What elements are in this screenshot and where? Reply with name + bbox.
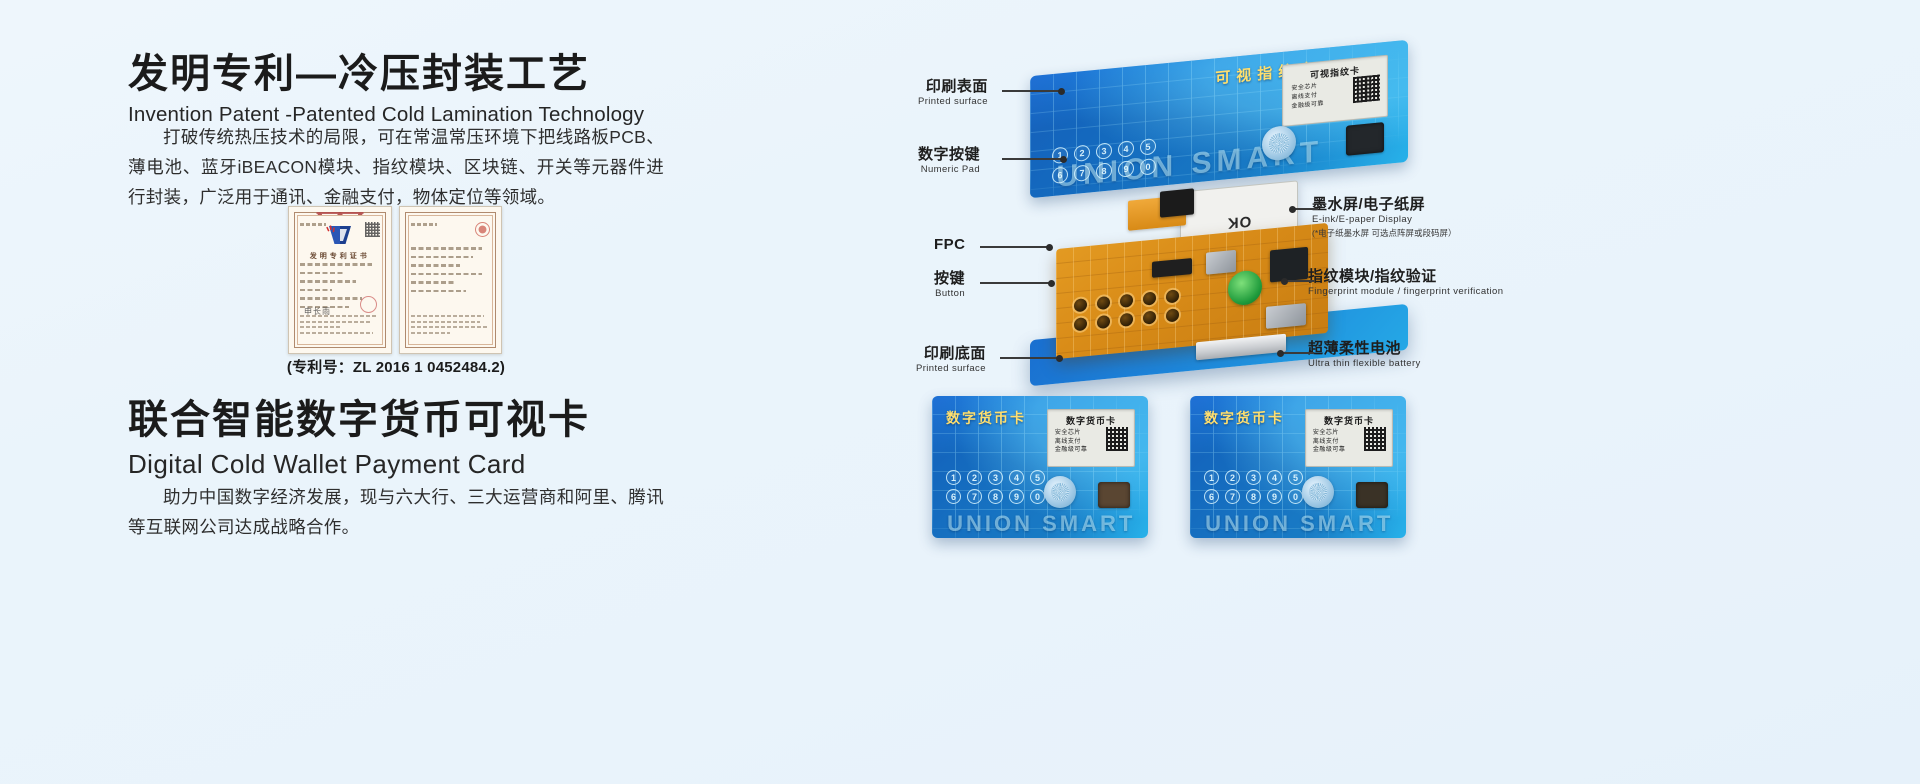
keypad-key[interactable]: 0 — [1140, 158, 1156, 176]
keypad-key[interactable]: 7 — [1225, 489, 1240, 504]
keypad-key[interactable]: 8 — [1246, 489, 1261, 504]
keypad-key[interactable]: 8 — [1096, 162, 1112, 180]
callout-label-cn: 墨水屏/电子纸屏 — [1312, 196, 1457, 213]
leader-line-printed-bottom — [1000, 357, 1060, 359]
eink-qr-icon — [1364, 427, 1386, 452]
pcb-contact-pads — [1074, 289, 1179, 331]
callout-label-cn: 超薄柔性电池 — [1308, 340, 1421, 357]
digital-currency-card-2: 数字货币卡 UNION SMART 数字货币卡 安全芯片 离线支付 金融级可靠 … — [1190, 396, 1406, 538]
section2-heading-cn: 联合智能数字货币可视卡 — [128, 398, 590, 443]
certificate-qr-icon — [365, 222, 380, 237]
callout-battery: 超薄柔性电池 Ultra thin flexible battery — [1308, 340, 1421, 370]
fingerprint-sensor[interactable] — [1356, 482, 1388, 508]
fingerprint-sensor[interactable] — [1346, 122, 1384, 156]
callout-label-en: Printed surface — [918, 96, 988, 107]
pcb-circuit-board — [1056, 223, 1328, 359]
certificate-footer-text — [300, 315, 380, 337]
callout-label-cn: 指纹模块/指纹验证 — [1308, 268, 1503, 285]
callout-label-cn: 数字按键 — [918, 146, 980, 163]
leader-line-printed-surface — [1002, 90, 1062, 92]
patent-certificate-2 — [399, 206, 503, 354]
eink-screen-title: 数字货币卡 — [1048, 414, 1134, 427]
keypad-key[interactable]: 3 — [988, 470, 1003, 485]
keypad-key[interactable]: 3 — [1246, 470, 1261, 485]
keypad-key[interactable]: 2 — [1225, 470, 1240, 485]
leader-line-fingerprint-module — [1284, 280, 1314, 282]
pcb-fingerprint-sensor — [1270, 247, 1308, 283]
certificate-footer-text — [411, 315, 491, 337]
leader-line-eink-display — [1292, 208, 1318, 210]
certificate-ornament-icon — [312, 206, 368, 215]
keypad-key[interactable]: 4 — [1118, 140, 1134, 158]
callout-label-en: Numeric Pad — [918, 164, 980, 175]
certificate-seal-icon — [360, 296, 377, 313]
callout-fpc: FPC — [934, 236, 966, 253]
callout-label-en: Button — [934, 288, 965, 299]
eink-screen-title: 数字货币卡 — [1306, 414, 1392, 427]
keypad-key[interactable]: 9 — [1118, 160, 1134, 178]
card-title: 数字货币卡 — [946, 408, 1026, 428]
digital-currency-card-1: 数字货币卡 UNION SMART 数字货币卡 安全芯片 离线支付 金融级可靠 … — [932, 396, 1148, 538]
section1-heading: 发明专利—冷压封装工艺 Invention Patent -Patented C… — [128, 52, 644, 127]
patent-emblem-icon — [325, 224, 355, 246]
left-content-column: 发明专利—冷压封装工艺 Invention Patent -Patented C… — [0, 0, 860, 784]
patent-certificate-1: 发明专利证书 申长雨 — [288, 206, 392, 354]
keypad-key[interactable]: 4 — [1267, 470, 1282, 485]
section1-heading-cn: 发明专利—冷压封装工艺 — [128, 52, 644, 97]
product-page: 发明专利—冷压封装工艺 Invention Patent -Patented C… — [0, 0, 1920, 784]
card-eink-display: 可视指纹卡 安全芯片 离线支付 金融级可靠 — [1282, 55, 1388, 127]
callout-label-en: Printed surface — [916, 363, 986, 374]
certificate-field-lines — [411, 247, 491, 298]
keypad-key[interactable]: 1 — [1204, 470, 1219, 485]
section2-heading-en: Digital Cold Wallet Payment Card — [128, 448, 590, 481]
card-numeric-keypad[interactable]: 1 2 3 4 5 6 7 8 9 0 — [946, 470, 1045, 504]
pcb-mcu-chip — [1152, 258, 1192, 278]
keypad-key[interactable]: 5 — [1140, 138, 1156, 156]
card-numeric-keypad[interactable]: 1 2 3 4 5 6 7 8 9 0 — [1204, 470, 1303, 504]
eink-qr-icon — [1353, 75, 1380, 104]
driver-chip — [1160, 188, 1194, 217]
keypad-key[interactable]: 8 — [988, 489, 1003, 504]
callout-label-en: E-ink/E-paper Display — [1312, 214, 1457, 225]
keypad-key[interactable]: 0 — [1288, 489, 1303, 504]
keypad-key[interactable]: 6 — [1052, 167, 1068, 185]
certificate-title: 发明专利证书 — [289, 251, 391, 261]
callout-label-en: Fingerprint module / fingerprint verific… — [1308, 286, 1503, 297]
product-diagram: 可视指纹卡 UNION SMART 可视指纹卡 安全芯片 离线支付 金融级可靠 … — [860, 0, 1920, 784]
leader-line-numeric-pad — [1002, 158, 1064, 160]
certificate-serial-line — [411, 223, 437, 226]
pcb-function-dial-icon — [1228, 269, 1262, 306]
eink-screen-lines: 安全芯片 离线支付 金融级可靠 — [1313, 429, 1346, 455]
patent-number: (专利号：ZL 2016 1 0452484.2) — [128, 356, 664, 377]
leader-line-battery — [1280, 352, 1314, 354]
callout-label-cn: FPC — [934, 236, 966, 253]
callout-printed-bottom: 印刷底面 Printed surface — [916, 345, 986, 375]
card-eink-display: 数字货币卡 安全芯片 离线支付 金融级可靠 — [1047, 409, 1135, 467]
card-eink-display: 数字货币卡 安全芯片 离线支付 金融级可靠 — [1305, 409, 1393, 467]
card-brand: UNION SMART — [947, 511, 1135, 537]
callout-label-cn: 按键 — [934, 270, 965, 287]
keypad-key[interactable]: 0 — [1030, 489, 1045, 504]
keypad-key[interactable]: 6 — [1204, 489, 1219, 504]
keypad-key[interactable]: 2 — [1074, 144, 1090, 162]
eink-screen-lines: 安全芯片 离线支付 金融级可靠 — [1055, 429, 1088, 455]
pcb-shield-can — [1206, 250, 1236, 275]
card-title: 数字货币卡 — [1204, 408, 1284, 428]
function-dial-icon[interactable] — [1302, 476, 1334, 508]
eink-panel-text: OK — [1227, 212, 1252, 231]
keypad-key[interactable]: 9 — [1009, 489, 1024, 504]
keypad-key[interactable]: 7 — [967, 489, 982, 504]
keypad-key[interactable]: 5 — [1030, 470, 1045, 485]
certificate-seal-icon — [475, 222, 490, 237]
keypad-key[interactable]: 6 — [946, 489, 961, 504]
function-dial-icon[interactable] — [1044, 476, 1076, 508]
callout-printed-surface: 印刷表面 Printed surface — [918, 78, 988, 108]
section2-paragraph: 助力中国数字经济发展，现与六大行、三大运营商和阿里、腾讯等互联网公司达成战略合作… — [128, 482, 664, 542]
callout-eink-display: 墨水屏/电子纸屏 E-ink/E-paper Display (*电子纸墨水屏 … — [1312, 196, 1457, 239]
patent-certificate-group: 发明专利证书 申长雨 — [288, 206, 502, 354]
fingerprint-sensor[interactable] — [1098, 482, 1130, 508]
keypad-key[interactable]: 1 — [946, 470, 961, 485]
keypad-key[interactable]: 4 — [1009, 470, 1024, 485]
section1-paragraph: 打破传统热压技术的局限，可在常温常压环境下把线路板PCB、薄电池、蓝牙iBEAC… — [128, 122, 664, 212]
pcb-antenna-module — [1266, 303, 1306, 329]
eink-qr-icon — [1106, 427, 1128, 452]
callout-numeric-pad: 数字按键 Numeric Pad — [918, 146, 980, 176]
keypad-key[interactable]: 9 — [1267, 489, 1282, 504]
callout-label-en: Ultra thin flexible battery — [1308, 358, 1421, 369]
certificate-serial-line — [300, 223, 326, 226]
callout-label-note: (*电子纸墨水屏 可选点阵屏或段码屏） — [1312, 227, 1457, 239]
keypad-key[interactable]: 5 — [1288, 470, 1303, 485]
callout-label-cn: 印刷底面 — [916, 345, 986, 362]
visual-fingerprint-card: 可视指纹卡 UNION SMART 可视指纹卡 安全芯片 离线支付 金融级可靠 … — [1030, 40, 1408, 198]
card-brand: UNION SMART — [1205, 511, 1393, 537]
keypad-key[interactable]: 3 — [1096, 142, 1112, 160]
callout-button: 按键 Button — [934, 270, 965, 300]
eink-screen-lines: 安全芯片 离线支付 金融级可靠 — [1291, 82, 1324, 111]
keypad-key[interactable]: 2 — [967, 470, 982, 485]
callout-fingerprint-module: 指纹模块/指纹验证 Fingerprint module / fingerpri… — [1308, 268, 1503, 298]
section2-heading: 联合智能数字货币可视卡 Digital Cold Wallet Payment … — [128, 398, 590, 480]
leader-line-button — [980, 282, 1052, 284]
keypad-key[interactable]: 7 — [1074, 164, 1090, 182]
callout-label-cn: 印刷表面 — [918, 78, 988, 95]
leader-line-fpc — [980, 246, 1050, 248]
